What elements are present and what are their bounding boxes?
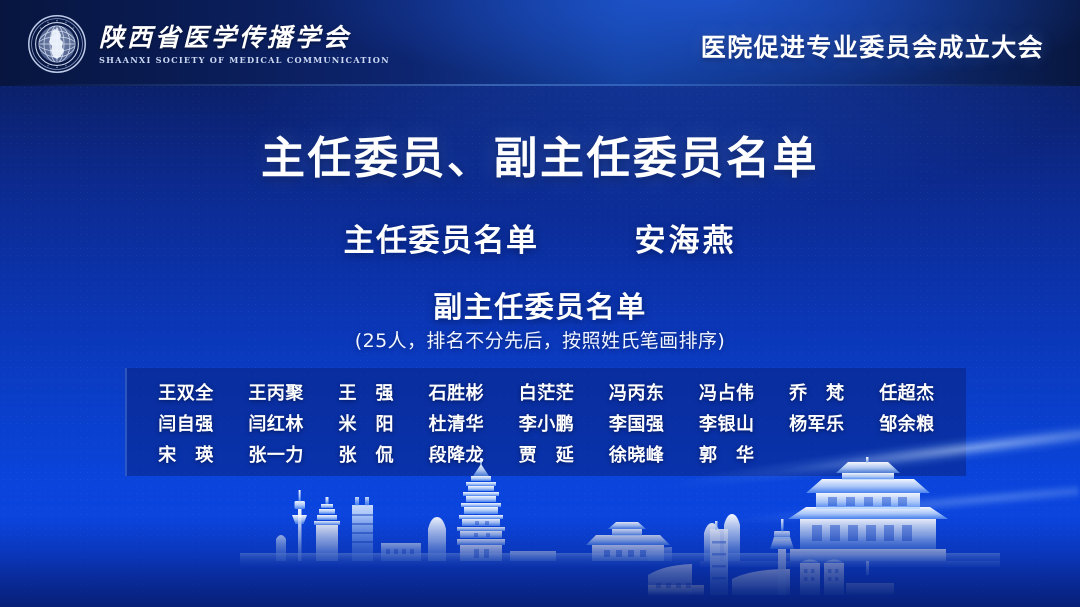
name-row: 宋 瑛 张一力 张 侃 段降龙 贾 延 徐晓峰 郭 华 xyxy=(141,439,952,470)
organization-name-cn: 陕西省医学传播学会 xyxy=(99,24,390,52)
name-cell: 徐晓峰 xyxy=(592,441,682,467)
page-title: 主任委员、副主任委员名单 xyxy=(0,122,1080,186)
vice-chairman-note: (25人，排名不分先后，按照姓氏笔画排序) xyxy=(0,326,1080,353)
name-cell: 乔 梵 xyxy=(772,379,862,405)
name-cell: 王 强 xyxy=(321,379,411,405)
name-cell: 宋 瑛 xyxy=(141,441,231,467)
city-skyline-footer xyxy=(0,457,1080,607)
organization-name-en: SHAANXI SOCIETY OF MEDICAL COMMUNICATION xyxy=(99,55,390,65)
name-row: 王双全 王丙聚 王 强 石胜彬 白茫茫 冯丙东 冯占伟 乔 梵 任超杰 xyxy=(141,376,952,407)
slide-header: 陕西省医学传播学会 SHAANXI SOCIETY OF MEDICAL COM… xyxy=(0,0,1080,86)
organization-logo-group: 陕西省医学传播学会 SHAANXI SOCIETY OF MEDICAL COM… xyxy=(27,14,390,74)
organization-name-block: 陕西省医学传播学会 SHAANXI SOCIETY OF MEDICAL COM… xyxy=(99,24,390,65)
vice-chairman-name-panel: 王双全 王丙聚 王 强 石胜彬 白茫茫 冯丙东 冯占伟 乔 梵 任超杰 闫自强 … xyxy=(125,368,966,476)
name-cell: 米 阳 xyxy=(321,410,411,436)
name-cell: 李银山 xyxy=(682,410,772,436)
name-cell: 王双全 xyxy=(141,379,231,405)
name-row: 闫自强 闫红林 米 阳 杜清华 李小鹏 李国强 李银山 杨军乐 邹余粮 xyxy=(141,407,952,438)
name-cell: 李小鹏 xyxy=(501,410,591,436)
name-cell: 杜清华 xyxy=(411,410,501,436)
chairman-label: 主任委员名单 xyxy=(344,215,539,260)
name-cell: 王丙聚 xyxy=(231,379,321,405)
name-cell: 张 侃 xyxy=(321,441,411,467)
name-cell: 白茫茫 xyxy=(501,379,591,405)
name-cell: 贾 延 xyxy=(501,441,591,467)
name-cell: 闫红林 xyxy=(231,410,321,436)
name-cell: 杨军乐 xyxy=(772,410,862,436)
name-cell: 张一力 xyxy=(231,441,321,467)
name-cell: 邹余粮 xyxy=(862,410,952,436)
society-circular-emblem-icon xyxy=(27,14,87,74)
presentation-slide: 陕西省医学传播学会 SHAANXI SOCIETY OF MEDICAL COM… xyxy=(0,0,1080,607)
ground-glow-overlay xyxy=(0,515,1080,607)
chairman-name: 安海燕 xyxy=(635,215,737,260)
name-cell: 李国强 xyxy=(592,410,682,436)
name-cell: 任超杰 xyxy=(862,379,952,405)
vice-chairman-section-title: 副主任委员名单 xyxy=(0,284,1080,326)
event-title: 医院促进专业委员会成立大会 xyxy=(701,28,1044,64)
name-cell: 冯占伟 xyxy=(682,379,772,405)
xian-city-skyline-icon xyxy=(0,457,1080,607)
name-cell: 郭 华 xyxy=(682,441,772,467)
name-cell: 石胜彬 xyxy=(411,379,501,405)
name-cell: 段降龙 xyxy=(411,441,501,467)
modern-district-skyline-icon xyxy=(0,457,1080,607)
chairman-row: 主任委员名单 安海燕 xyxy=(0,215,1080,260)
name-cell: 闫自强 xyxy=(141,410,231,436)
name-cell: 冯丙东 xyxy=(592,379,682,405)
